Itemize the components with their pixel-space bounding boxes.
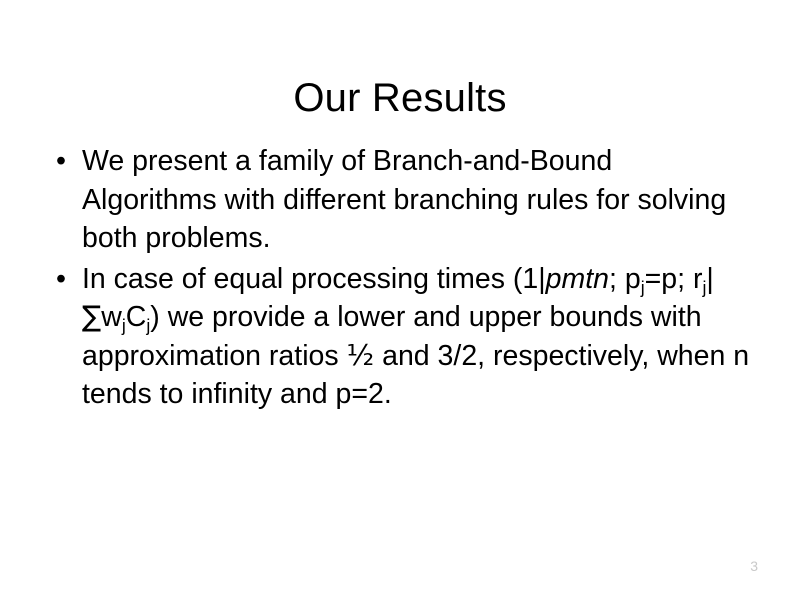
fraction-one-half: ½ xyxy=(347,339,375,372)
summation-symbol-icon: ∑ xyxy=(82,300,101,333)
page-title: Our Results xyxy=(60,75,740,121)
run-text: w xyxy=(101,301,122,333)
list-item-text: In case of equal processing times (1|pmt… xyxy=(82,260,752,414)
slide-body-content: • We present a family of Branch-and-Boun… xyxy=(52,142,752,416)
list-item: • In case of equal processing times (1|p… xyxy=(52,260,752,414)
bullet-point-icon: • xyxy=(56,142,66,181)
run-text: In case of equal processing times (1| xyxy=(82,263,546,295)
run-text: | xyxy=(706,263,713,295)
bullet-point-icon: • xyxy=(56,260,66,299)
run-text: ; p xyxy=(609,263,641,295)
list-item: • We present a family of Branch-and-Boun… xyxy=(52,142,752,258)
slide-number: 3 xyxy=(698,558,758,574)
run-text: C xyxy=(126,301,147,333)
list-item-text: We present a family of Branch-and-Bound … xyxy=(82,142,752,258)
presentation-slide: Our Results • We present a family of Bra… xyxy=(0,0,800,600)
run-text: =p; r xyxy=(645,263,703,295)
run-italic-pmtn: pmtn xyxy=(546,263,609,295)
